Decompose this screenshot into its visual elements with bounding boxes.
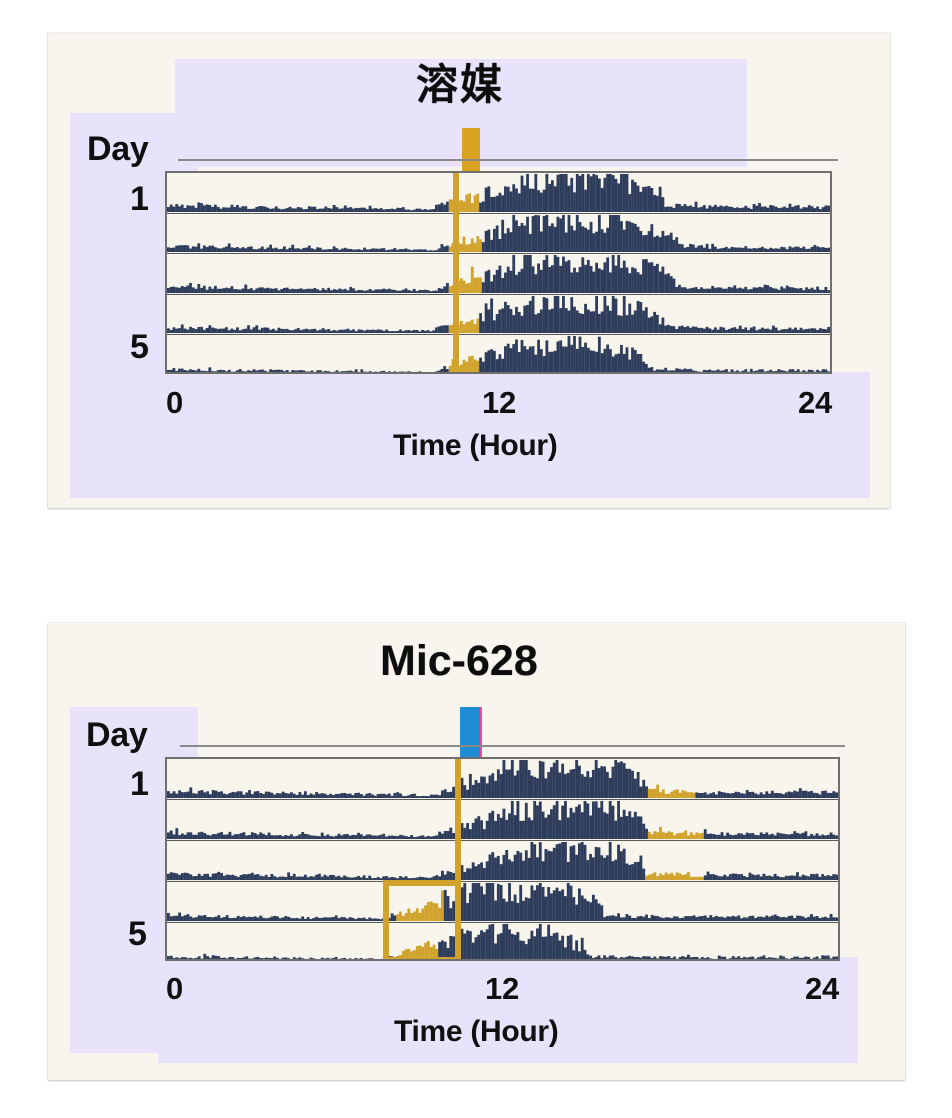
actogram-row	[167, 882, 838, 923]
panel-marker-title: 溶媒	[416, 51, 504, 112]
activity-trace	[167, 214, 830, 253]
actogram-row	[167, 841, 838, 882]
phase-advance-bracket	[383, 880, 461, 961]
x-axis-title: Time (Hour)	[394, 1015, 558, 1049]
activity-trace	[167, 923, 838, 961]
activity-trace	[167, 759, 838, 799]
dose-time-marker	[455, 759, 461, 961]
y-tick-5: 5	[130, 328, 149, 367]
actogram-plot-area-mic628	[165, 757, 840, 961]
activity-trace	[167, 295, 830, 334]
actogram-row	[167, 254, 830, 295]
activity-trace	[167, 882, 838, 922]
activity-trace	[167, 335, 830, 374]
actogram-panel-vehicle: 溶媒 Day 1 5 0 12 24 Time (Hour)	[48, 33, 890, 508]
activity-trace	[167, 841, 838, 881]
y-tick-1: 1	[130, 765, 149, 804]
actogram-row	[167, 335, 830, 374]
x-tick-0: 0	[166, 971, 183, 1007]
x-tick-12: 12	[485, 971, 519, 1007]
actogram-row	[167, 214, 830, 254]
actogram-row	[167, 759, 838, 800]
actogram-row	[167, 295, 830, 335]
dose-time-marker	[453, 173, 459, 374]
actogram-panel-mic628: Mic-628 Day 1 5 0 12 24 Time (Hour)	[48, 623, 905, 1080]
activity-trace	[167, 254, 830, 294]
x-tick-0: 0	[166, 385, 183, 421]
actogram-row	[167, 800, 838, 841]
activity-trace	[167, 173, 830, 213]
y-axis-title: Day	[86, 716, 147, 755]
x-axis-title: Time (Hour)	[393, 429, 557, 463]
panel-marker-title: Mic-628	[380, 637, 538, 686]
frame-top-rule	[178, 159, 838, 161]
x-tick-12: 12	[482, 385, 516, 421]
y-tick-1: 1	[130, 180, 149, 219]
actogram-row	[167, 923, 838, 961]
frame-top-rule	[180, 745, 845, 747]
y-axis-title: Day	[87, 130, 148, 169]
x-tick-24: 24	[805, 971, 839, 1007]
actogram-row	[167, 173, 830, 214]
activity-trace	[167, 800, 838, 840]
actogram-plot-area-vehicle	[165, 171, 832, 374]
x-tick-24: 24	[798, 385, 832, 421]
y-tick-5: 5	[128, 915, 147, 954]
